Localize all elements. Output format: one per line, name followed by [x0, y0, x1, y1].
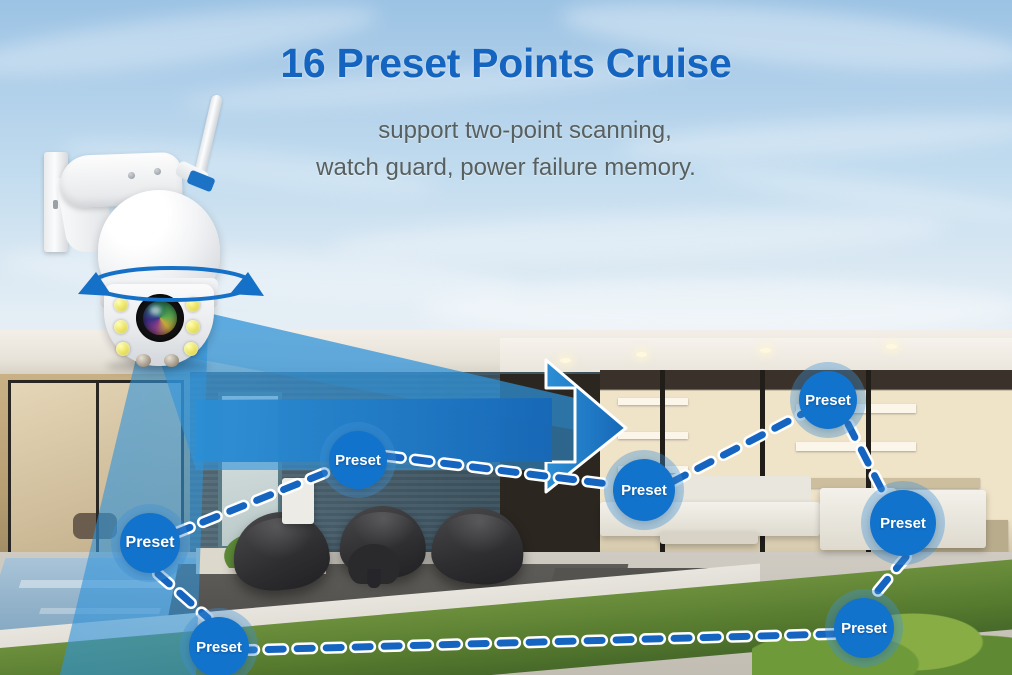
- preset-node-3[interactable]: Preset: [613, 459, 675, 521]
- preset-node-1[interactable]: Preset: [120, 513, 180, 573]
- preset-node-4[interactable]: Preset: [799, 371, 857, 429]
- preset-node-label: Preset: [126, 534, 175, 552]
- promo-banner: 16 Preset Points Cruise support two-poin…: [0, 0, 1012, 675]
- preset-node-6[interactable]: Preset: [834, 598, 894, 658]
- preset-node-7[interactable]: Preset: [189, 617, 249, 675]
- preset-node-label: Preset: [880, 515, 926, 532]
- preset-node-label: Preset: [841, 620, 887, 637]
- preset-node-5[interactable]: Preset: [870, 490, 936, 556]
- preset-node-label: Preset: [335, 452, 381, 469]
- preset-node-label: Preset: [196, 639, 242, 656]
- preset-node-layer: PresetPresetPresetPresetPresetPresetPres…: [0, 0, 1012, 675]
- preset-node-label: Preset: [621, 482, 667, 499]
- preset-node-label: Preset: [805, 392, 851, 409]
- preset-node-2[interactable]: Preset: [329, 431, 387, 489]
